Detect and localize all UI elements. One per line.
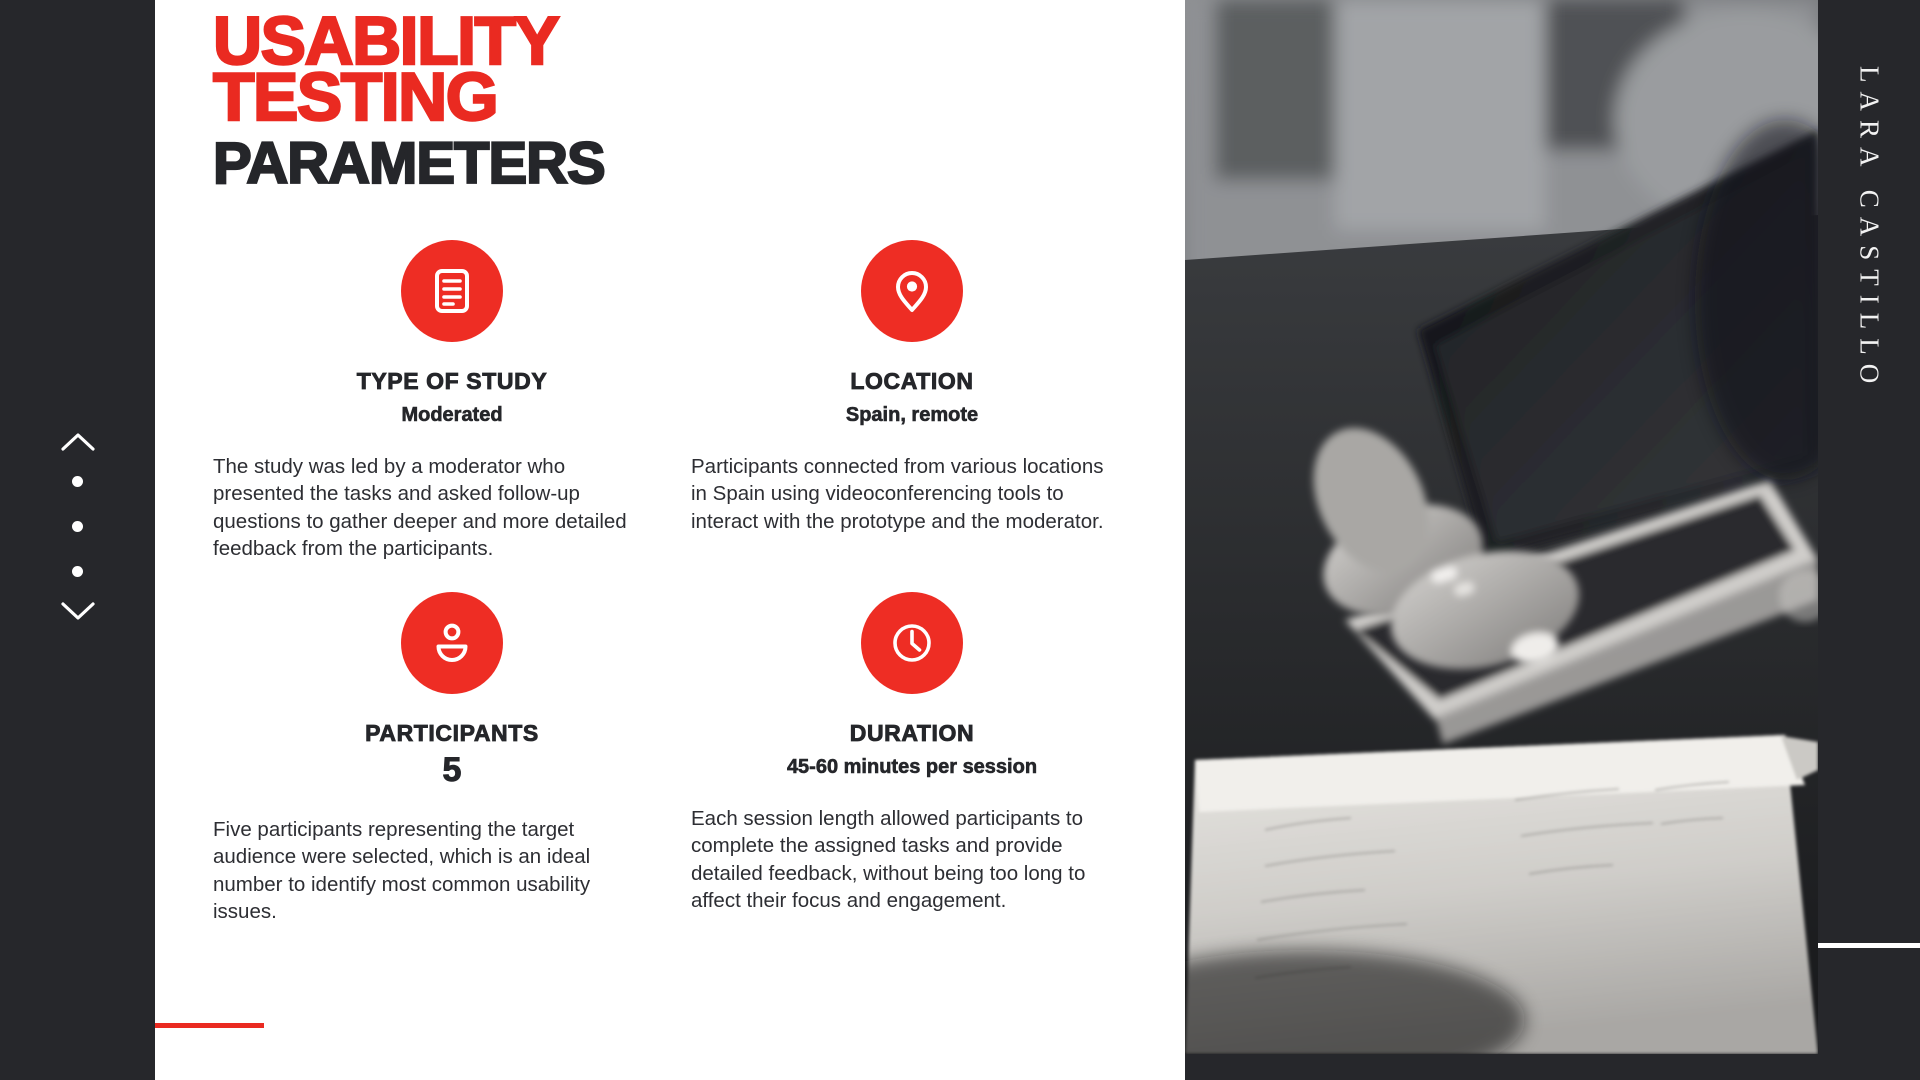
card-description: The study was led by a moderator who pre… [213,453,645,562]
parameter-card-participants: PARTICIPANTS 5 Five participants represe… [213,592,691,925]
card-title: LOCATION [691,368,1133,395]
card-description: Each session length allowed participants… [691,805,1123,914]
slide-dot-2[interactable] [72,521,83,532]
card-value: 45-60 minutes per session [691,756,1133,779]
card-value: 5 [213,751,691,790]
location-pin-icon [861,240,963,342]
accent-rule-white [1818,943,1920,948]
card-value: Moderated [213,404,691,427]
person-icon [401,592,503,694]
card-title: TYPE OF STUDY [213,368,691,395]
slide-root: USABILITY TESTING PARAMETERS TYPE OF STU… [0,0,1920,1080]
slide-dot-1[interactable] [72,476,83,487]
author-name: LARA CASTILLO [1854,66,1885,392]
page-subtitle: PARAMETERS [213,132,605,197]
card-value: Spain, remote [691,404,1133,427]
slide-dot-3[interactable] [72,566,83,577]
right-brand-rail: LARA CASTILLO [1818,0,1920,1080]
page-title: USABILITY TESTING PARAMETERS [213,14,605,196]
clock-icon [861,592,963,694]
parameter-card-location: LOCATION Spain, remote Participants conn… [691,240,1133,562]
hero-photo [1185,0,1818,1054]
left-navigation-rail [0,0,155,1080]
card-title: DURATION [691,720,1133,747]
slide-navigation [0,432,155,621]
parameter-card-type-of-study: TYPE OF STUDY Moderated The study was le… [213,240,691,562]
card-description: Participants connected from various loca… [691,453,1123,535]
parameter-card-grid: TYPE OF STUDY Moderated The study was le… [213,240,1133,925]
chevron-up-icon[interactable] [61,432,95,452]
card-title: PARTICIPANTS [213,720,691,747]
chevron-down-icon[interactable] [61,601,95,621]
content-panel: USABILITY TESTING PARAMETERS TYPE OF STU… [155,0,1185,1080]
document-icon [401,240,503,342]
parameter-card-duration: DURATION 45-60 minutes per session Each … [691,592,1133,925]
card-description: Five participants representing the targe… [213,816,645,925]
slide-dots [72,476,83,577]
